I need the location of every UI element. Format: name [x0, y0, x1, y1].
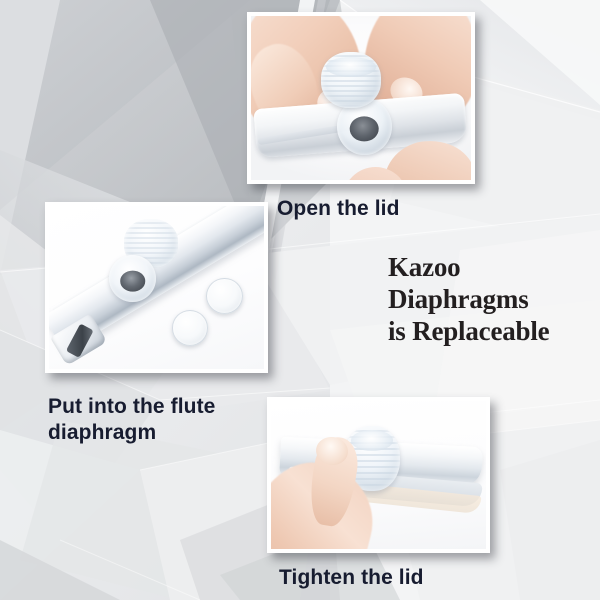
photo-put-into-image	[49, 206, 264, 369]
photo-put-into-flute-diaphragm	[45, 202, 268, 373]
clear-lid-cap	[321, 52, 380, 108]
caption-open-lid: Open the lid	[277, 196, 400, 222]
page-title: Kazoo Diaphragms is Replaceable	[388, 251, 588, 347]
lid-cap-rim	[326, 57, 376, 77]
infographic-canvas: Open the lid Kazoo Diaphragms is Replace…	[0, 0, 600, 600]
caption-put-into-flute-diaphragm: Put into the flute diaphragm	[48, 394, 215, 446]
diaphragm-hole	[120, 271, 146, 292]
caption-tighten-lid: Tighten the lid	[279, 565, 424, 591]
photo-open-lid	[247, 12, 475, 184]
lid-cap-rim	[351, 430, 393, 451]
photo-tighten-lid	[267, 397, 490, 553]
spare-diaphragm-disc	[172, 310, 209, 346]
photo-tighten-image	[271, 401, 486, 549]
photo-open-lid-image	[251, 16, 471, 180]
diaphragm-hole	[350, 116, 379, 141]
spare-diaphragm-disc	[206, 278, 243, 314]
